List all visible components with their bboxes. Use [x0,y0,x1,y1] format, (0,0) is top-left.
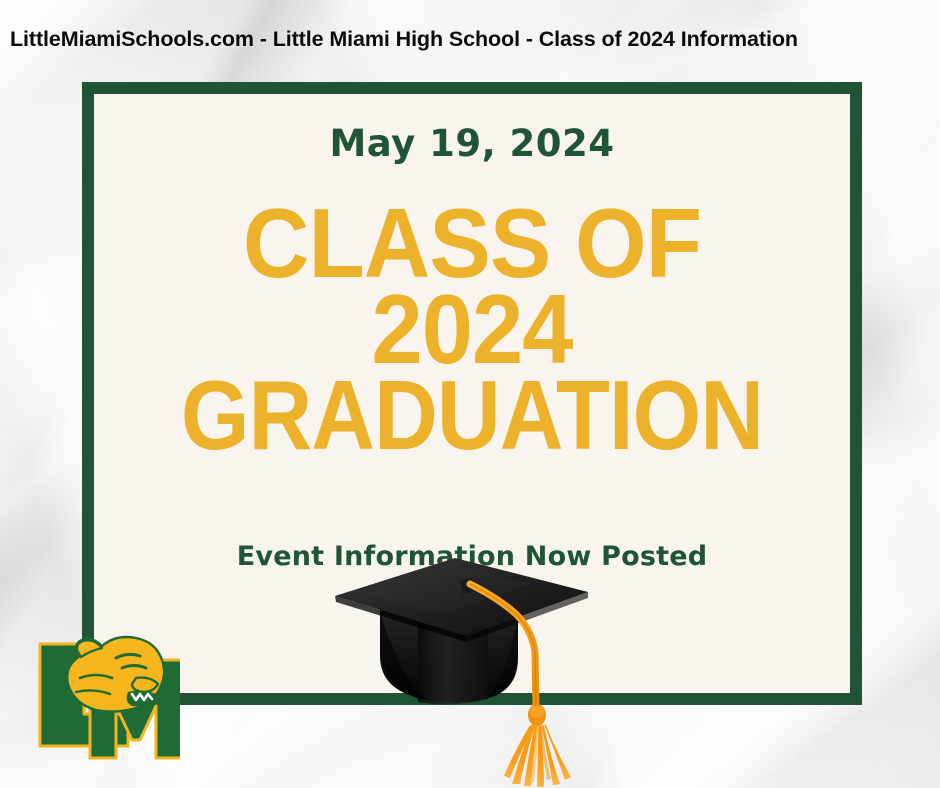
graduation-announcement-poster: LittleMiamiSchools.com - Little Miami Hi… [0,0,940,788]
panther-head-icon [67,637,164,712]
event-date: May 19, 2024 [94,122,850,165]
poster-card-frame: May 19, 2024 CLASS OF 2024 GRADUATION Ev… [82,82,862,705]
page-title: CLASS OF 2024 GRADUATION [94,200,850,459]
school-logo [24,622,180,764]
poster-card-content: May 19, 2024 CLASS OF 2024 GRADUATION Ev… [94,94,850,693]
headline-line-3: GRADUATION [132,372,812,458]
status-text: Event Information Now Posted [94,541,850,572]
breadcrumb: LittleMiamiSchools.com - Little Miami Hi… [0,0,940,78]
breadcrumb-text: LittleMiamiSchools.com - Little Miami Hi… [10,27,798,52]
